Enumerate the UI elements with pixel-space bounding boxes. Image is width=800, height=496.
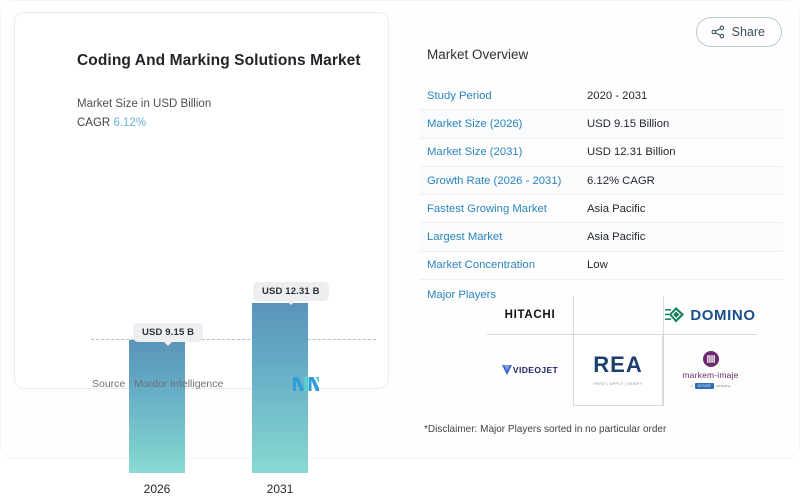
- chart-title: Coding And Marking Solutions Market: [77, 51, 367, 71]
- table-row: Largest Market Asia Pacific: [419, 223, 783, 251]
- player-cell-rea[interactable]: REA PRINT | APPLY | VERIFY: [573, 334, 663, 406]
- row-value: 2020 - 2031: [587, 90, 647, 102]
- chart-subtitle: Market Size in USD Billion: [77, 98, 211, 110]
- domino-wordmark: DOMINO: [690, 307, 755, 324]
- row-key: Growth Rate (2026 - 2031): [419, 175, 587, 187]
- cagr-value: 6.12%: [113, 117, 146, 129]
- market-overview-table: Study Period 2020 - 2031 Market Size (20…: [419, 82, 783, 310]
- row-key: Fastest Growing Market: [419, 203, 587, 215]
- markem-sub-prefix: a: [691, 384, 693, 388]
- source-text: Source : Mordor Intelligence: [92, 378, 223, 390]
- row-key: Study Period: [419, 90, 587, 102]
- x-axis-tick-2026: 2026: [117, 482, 197, 496]
- row-value: Asia Pacific: [587, 203, 645, 215]
- markem-imaje-sub: a DOVER company: [691, 383, 731, 389]
- player-cell-videojet[interactable]: VIDEOJET: [487, 334, 573, 406]
- row-value: USD 12.31 Billion: [587, 146, 676, 158]
- table-row: Study Period 2020 - 2031: [419, 82, 783, 110]
- market-overview-title: Market Overview: [427, 47, 528, 62]
- table-row: Market Size (2026) USD 9.15 Billion: [419, 110, 783, 138]
- row-value: Low: [587, 259, 608, 271]
- player-cell-hitachi[interactable]: HITACHI: [487, 296, 573, 334]
- table-row: Growth Rate (2026 - 2031) 6.12% CAGR: [419, 167, 783, 195]
- player-cell-domino[interactable]: DOMINO: [664, 296, 757, 334]
- domino-mark-icon: [665, 306, 685, 324]
- videojet-logo: VIDEOJET: [502, 365, 558, 376]
- domino-logo: DOMINO: [665, 306, 755, 324]
- major-players-logo-grid: HITACHI DOMINO VI: [487, 296, 757, 406]
- bar-value-label-2031: USD 12.31 B: [253, 282, 329, 301]
- hitachi-logo: HITACHI: [505, 309, 556, 321]
- row-key: Largest Market: [419, 231, 587, 243]
- rea-tagline: PRINT | APPLY | VERIFY: [593, 382, 642, 386]
- dover-brand: DOVER: [695, 383, 714, 389]
- player-cell-markem-imaje[interactable]: markem-imaje a DOVER company: [664, 334, 757, 406]
- bar-2026[interactable]: [129, 340, 185, 473]
- markem-imaje-mark-icon: [703, 351, 719, 367]
- share-button-label: Share: [732, 25, 765, 39]
- row-key: Market Concentration: [419, 259, 587, 271]
- row-value: USD 9.15 Billion: [587, 118, 669, 130]
- table-row: Market Concentration Low: [419, 252, 783, 280]
- share-button[interactable]: Share: [696, 17, 782, 47]
- cagr-label: CAGR: [77, 117, 110, 129]
- share-icon: [711, 25, 725, 39]
- videojet-wordmark: VIDEOJET: [513, 365, 558, 375]
- row-value: Asia Pacific: [587, 231, 645, 243]
- row-key: Market Size (2026): [419, 118, 587, 130]
- chart-card: Coding And Marking Solutions Market Mark…: [14, 12, 389, 389]
- table-row: Market Size (2031) USD 12.31 Billion: [419, 139, 783, 167]
- table-row: Fastest Growing Market Asia Pacific: [419, 195, 783, 223]
- mordor-intelligence-logo: [293, 376, 319, 391]
- videojet-mark-icon: [502, 365, 512, 376]
- bar-value-label-2026: USD 9.15 B: [133, 323, 203, 342]
- report-snapshot-card: Coding And Marking Solutions Market Mark…: [0, 0, 800, 459]
- row-key: Market Size (2031): [419, 146, 587, 158]
- chart-cagr: CAGR 6.12%: [77, 117, 146, 129]
- markem-imaje-logo: markem-imaje a DOVER company: [682, 351, 738, 389]
- markem-sub-suffix: company: [716, 384, 731, 388]
- bar-chart-plot: USD 9.15 B USD 12.31 B 2026 2031: [29, 143, 376, 348]
- markem-imaje-wordmark: markem-imaje: [682, 370, 738, 380]
- x-axis-tick-2031: 2031: [240, 482, 320, 496]
- row-value: 6.12% CAGR: [587, 175, 655, 187]
- rea-wordmark: REA: [593, 354, 642, 376]
- players-disclaimer: *Disclaimer: Major Players sorted in no …: [424, 424, 666, 435]
